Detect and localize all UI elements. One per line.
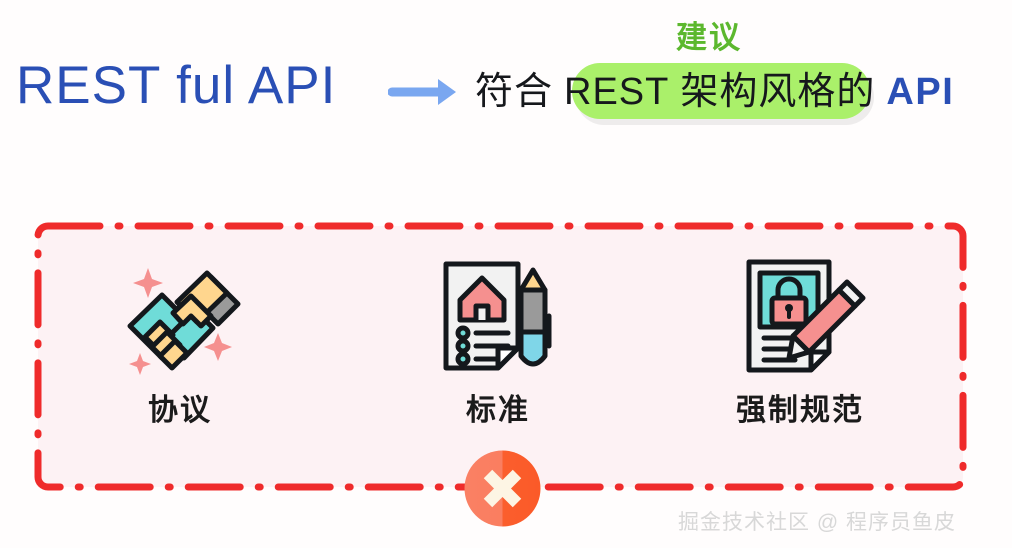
title-tail-cjk: 的: [836, 64, 875, 120]
cross-circle-icon: [464, 450, 541, 527]
right-arrow-icon: [388, 76, 462, 108]
page-title-left: REST ful API: [16, 58, 336, 114]
document-lock-pencil-icon: [700, 254, 900, 382]
list-item: 强制规范: [700, 254, 900, 430]
title-highlight-rest: REST: [564, 64, 669, 120]
watermark: 掘金技术社区 @ 程序员鱼皮: [678, 509, 956, 537]
page-title-right: 符合 REST 架构风格 的 API: [475, 62, 954, 122]
slide-canvas: REST ful API 建议 符合 REST 架构风格 的 API: [0, 0, 1012, 548]
list-item-label: 强制规范: [700, 392, 900, 430]
handshake-icon: [80, 254, 280, 382]
list-item: 协议: [80, 254, 280, 430]
list-item-label: 协议: [80, 392, 280, 430]
title-api: API: [886, 64, 954, 120]
document-standard-icon: [398, 254, 598, 382]
header: REST ful API 建议 符合 REST 架构风格 的 API: [0, 0, 1012, 150]
list-item: 标准: [398, 254, 598, 430]
title-highlight-cjk: 架构风格: [680, 64, 836, 120]
title-prefix: 符合: [475, 64, 553, 120]
list-item-label: 标准: [398, 392, 598, 430]
suggestion-label: 建议: [676, 20, 742, 56]
